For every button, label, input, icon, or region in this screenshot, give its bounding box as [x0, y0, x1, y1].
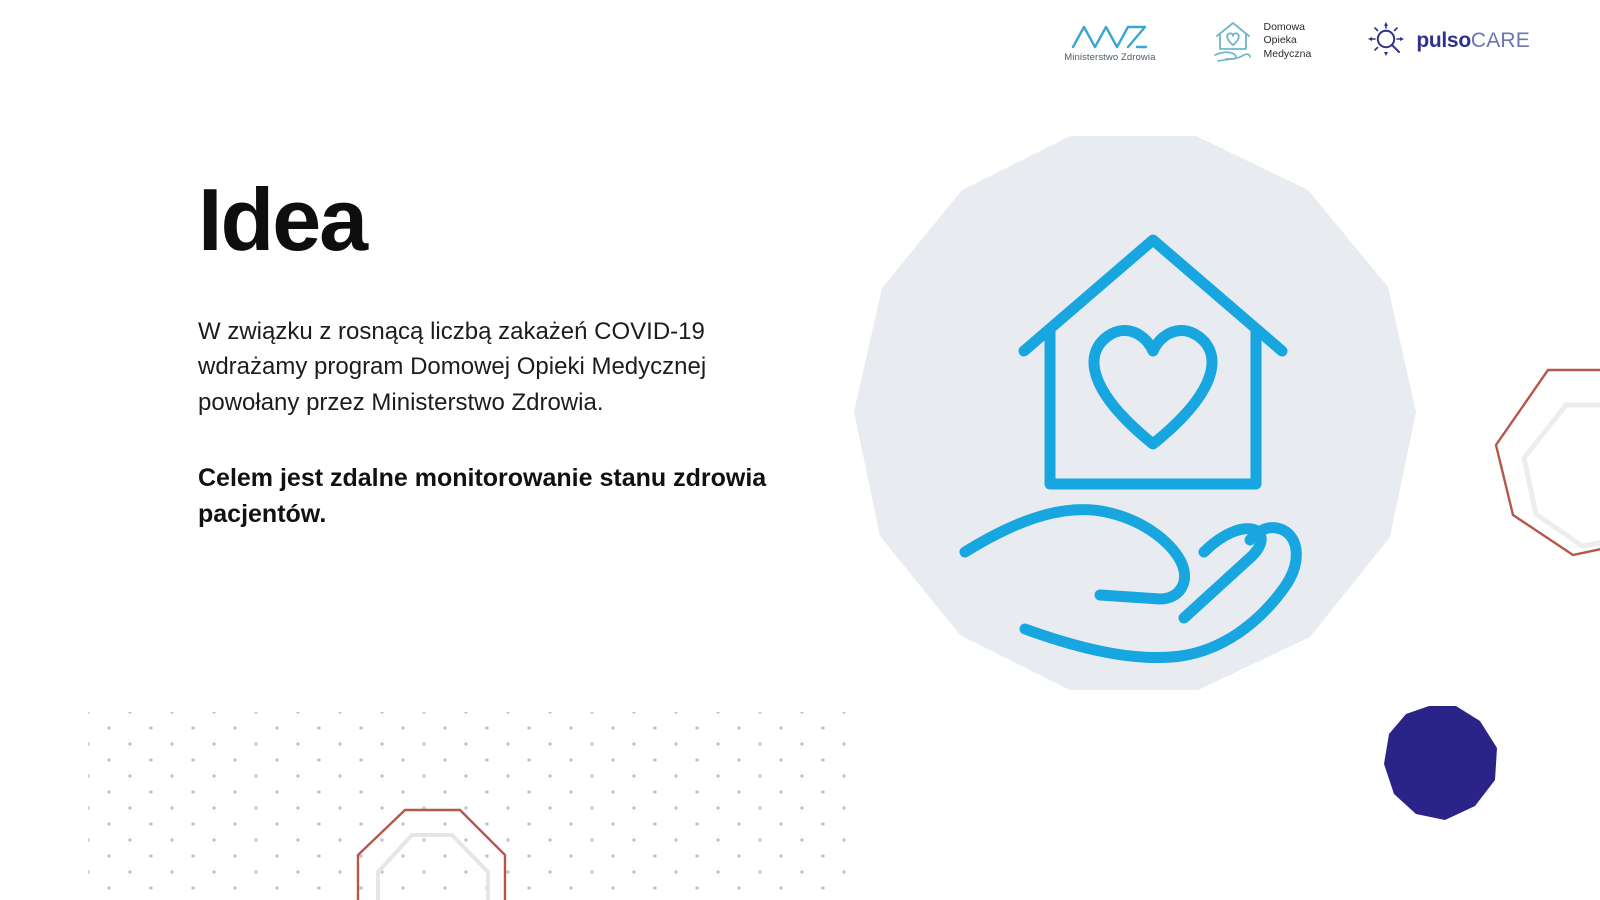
- lead-statement: Celem jest zdalne monitorowanie stanu zd…: [198, 460, 768, 533]
- page-title: Idea: [198, 178, 798, 262]
- ministry-of-health-caption: Ministerstwo Zdrowia: [1064, 52, 1155, 63]
- logo-bar: Ministerstwo Zdrowia Domowa Opieka Medyc…: [1064, 18, 1530, 64]
- pulsocare-wordmark: pulsoCARE: [1416, 29, 1530, 53]
- pulsocare-logo: pulsoCARE: [1367, 21, 1530, 61]
- dot-grid-pattern: [88, 712, 848, 900]
- home-care-hero-illustration: [818, 132, 1448, 762]
- content-column: Idea W związku z rosnącą liczbą zakażeń …: [198, 178, 798, 533]
- polygon-outline-bottom: [300, 780, 560, 900]
- domowa-opieka-medyczna-caption: Domowa Opieka Medyczna: [1263, 21, 1311, 61]
- intro-paragraph: W związku z rosnącą liczbą zakażeń COVID…: [198, 314, 758, 421]
- illustration-backdrop-polygon: [854, 136, 1416, 690]
- pulse-magnifier-icon: [1367, 21, 1407, 61]
- house-heart-hand-icon: [1211, 18, 1255, 64]
- polygon-outline-right: [1478, 350, 1600, 580]
- pulsocare-word-bold: pulso: [1416, 29, 1471, 52]
- ministry-of-health-logo: Ministerstwo Zdrowia: [1064, 20, 1155, 63]
- domowa-opieka-medyczna-logo: Domowa Opieka Medyczna: [1211, 18, 1311, 64]
- pulsocare-word-light: CARE: [1471, 29, 1530, 52]
- slide-idea: Ministerstwo Zdrowia Domowa Opieka Medyc…: [0, 0, 1600, 900]
- mz-zigzag-icon: [1071, 20, 1149, 50]
